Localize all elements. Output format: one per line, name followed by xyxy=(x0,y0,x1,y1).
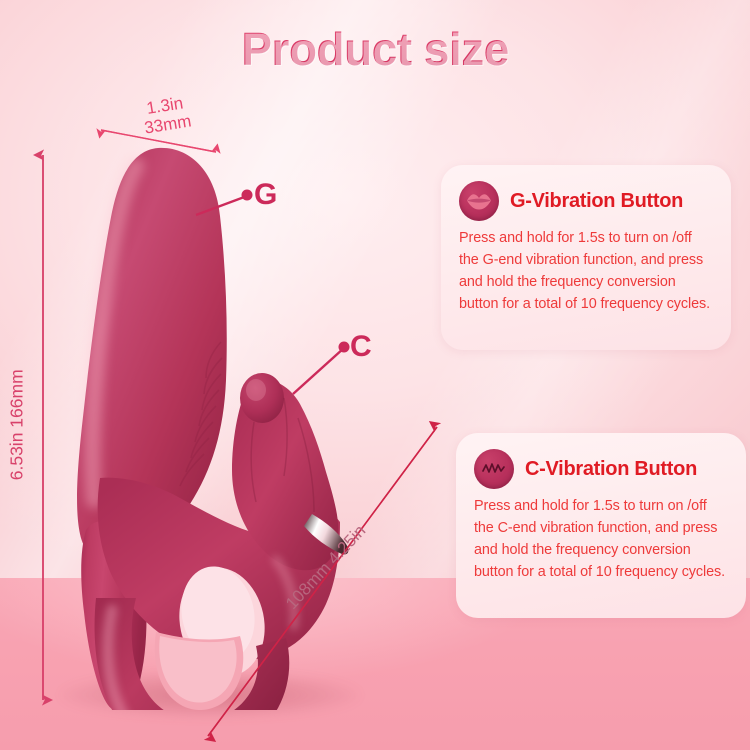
page-title-text: Product size xyxy=(241,23,509,75)
vibration-wave-icon xyxy=(474,449,514,489)
callout-letter-c: C xyxy=(350,330,372,364)
info-card-g-vibration: G-Vibration Button Press and hold for 1.… xyxy=(441,165,731,350)
lips-icon-glyph xyxy=(466,192,492,210)
callout-letter-g: G xyxy=(254,178,277,212)
lips-icon xyxy=(459,181,499,221)
card-title-c: C-Vibration Button xyxy=(525,458,697,481)
height-dimension-label: 6.53in 166mm xyxy=(8,369,28,480)
card-body-c: Press and hold for 1.5s to turn on /off … xyxy=(474,496,726,584)
card-header-c: C-Vibration Button xyxy=(474,449,726,489)
product-c-nub-highlight xyxy=(246,379,266,401)
product-illustration xyxy=(40,130,400,710)
card-header-g: G-Vibration Button xyxy=(459,181,711,221)
page-title: Product size xyxy=(0,22,750,76)
vibration-wave-icon-glyph xyxy=(481,461,507,477)
card-title-g: G-Vibration Button xyxy=(510,190,683,213)
product-size-infographic: Product size xyxy=(0,0,750,750)
info-card-c-vibration: C-Vibration Button Press and hold for 1.… xyxy=(456,433,746,618)
card-body-g: Press and hold for 1.5s to turn on /off … xyxy=(459,228,711,316)
width-dimension-label: 1.3in 33mm xyxy=(140,93,193,138)
